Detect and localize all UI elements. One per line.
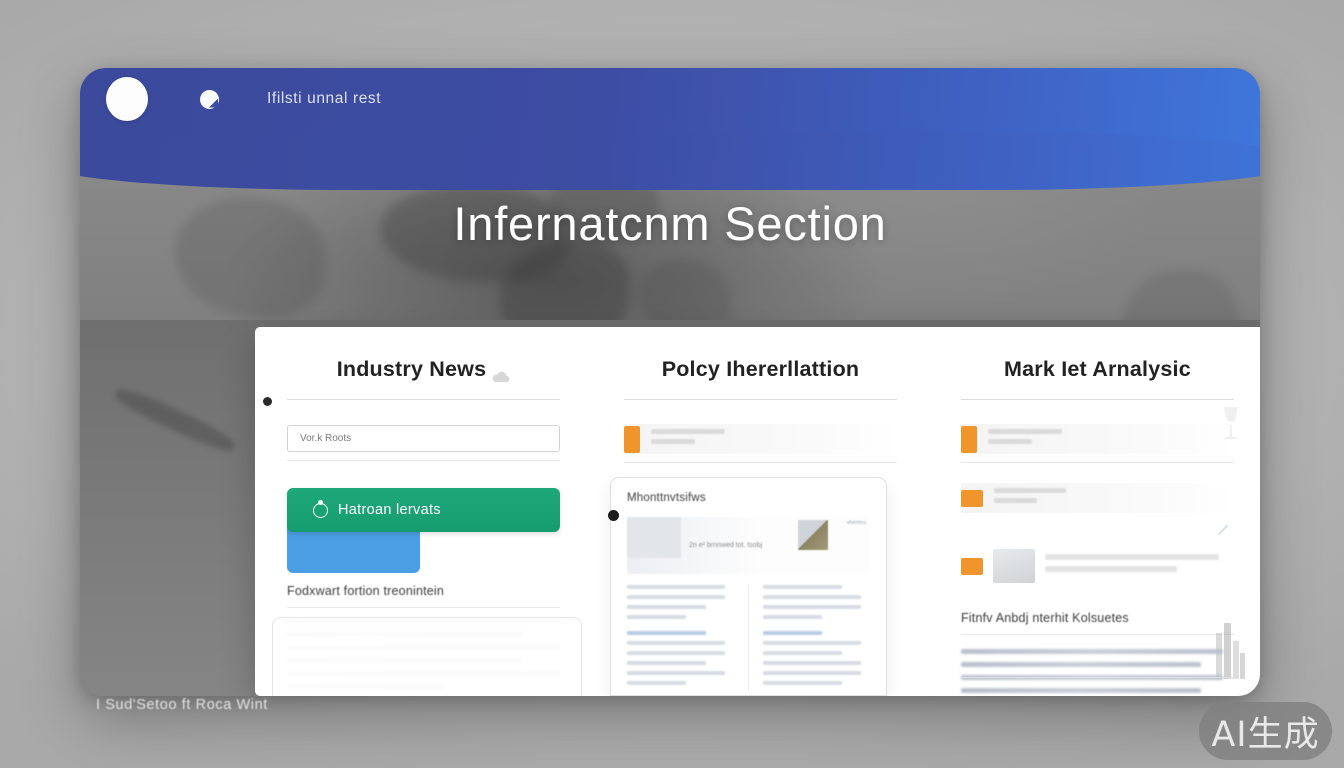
thumbnail (993, 549, 1035, 583)
list-item[interactable] (624, 424, 897, 454)
pie-progress-icon[interactable] (200, 90, 219, 109)
list-item[interactable] (961, 424, 1234, 454)
primary-action-label: Hatroan lervats (338, 502, 441, 518)
cloud-icon (491, 364, 510, 376)
column-heading-label: Polcy Ihererllattion (662, 357, 860, 382)
column-divider (624, 399, 897, 400)
document-preview-card[interactable]: Mhonttnvtsifws vhermcu 2n e² brnnwed tot… (610, 477, 887, 696)
app-window: Infernatcnm Section Ifilsti unnal rest I… (80, 68, 1260, 696)
column-heading-market-analysis: Mark Iet Arnalysic (961, 357, 1234, 382)
column-heading-label: Mark Iet Arnalysic (1004, 357, 1191, 382)
section-subheading: Fitnfv Anbdj nterhit Kolsuetes (961, 611, 1234, 625)
column-heading-industry-news: Industry News (287, 357, 560, 382)
list-item-text (988, 429, 1234, 449)
list-marker-icon (624, 426, 640, 453)
pencil-icon[interactable] (1217, 523, 1230, 536)
column-divider (961, 399, 1234, 400)
divider (961, 677, 1234, 678)
document-corner-chart (798, 520, 828, 550)
footer-caption: I Sud'Setoo ft Roca Wint (96, 697, 268, 713)
document-hero-caption: 2n e² brnnwed tot. tsobj (689, 542, 762, 549)
text-line (961, 649, 1223, 654)
column-policy-interpretation: Polcy Ihererllattion Mhonttnvtsifws vher… (592, 327, 929, 696)
column-heading-policy-interpretation: Polcy Ihererllattion (624, 357, 897, 382)
document-hero: vhermcu 2n e² brnnwed tot. tsobj (627, 517, 870, 574)
divider (287, 607, 560, 608)
list-marker-icon (961, 558, 983, 575)
topbar-title: Ifilsti unnal rest (267, 90, 381, 108)
divider (624, 462, 897, 463)
divider (961, 634, 1234, 635)
list-marker-icon (961, 490, 983, 507)
document-thumbnail (627, 517, 681, 558)
list-bullet-marker (263, 397, 272, 406)
wine-glass-icon (1220, 405, 1242, 441)
list-item[interactable] (961, 483, 1234, 513)
column-market-analysis: Mark Iet Arnalysic (929, 327, 1260, 696)
content-card: Industry News Vor.k Roots Hatroan lervat… (255, 327, 1260, 696)
page-title: Infernatcnm Section (80, 196, 1260, 251)
search-input[interactable]: Vor.k Roots (287, 425, 560, 452)
inner-panel (272, 617, 582, 696)
list-item-text (994, 488, 1234, 508)
document-title: Mhonttnvtsifws (627, 492, 870, 504)
list-marker-icon (961, 426, 977, 453)
list-item[interactable] (961, 543, 1234, 589)
document-column (763, 585, 870, 691)
search-input-value: Vor.k Roots (300, 433, 351, 444)
column-divider (287, 399, 560, 400)
text-line (961, 662, 1201, 667)
text-line (961, 688, 1201, 693)
avatar[interactable] (106, 77, 148, 121)
column-industry-news: Industry News Vor.k Roots Hatroan lervat… (255, 327, 592, 696)
ai-watermark-badge: AI生成 (1199, 702, 1332, 760)
document-columns (627, 585, 870, 691)
anchor-dot (608, 510, 619, 521)
section-subheading: Fodxwart fortion treonintein (287, 584, 560, 598)
divider (287, 460, 560, 461)
document-column (627, 585, 734, 691)
divider (961, 462, 1234, 463)
app-topbar: Ifilsti unnal rest (80, 68, 1260, 152)
list-item-text (651, 429, 897, 449)
placeholder-paragraph (961, 649, 1234, 696)
list-item-text (1045, 554, 1234, 578)
document-legend: vhermcu (847, 519, 866, 528)
share-icon (313, 503, 328, 518)
decorative-branch (112, 383, 238, 456)
column-heading-label: Industry News (337, 357, 487, 382)
primary-action-button[interactable]: Hatroan lervats (287, 488, 560, 532)
